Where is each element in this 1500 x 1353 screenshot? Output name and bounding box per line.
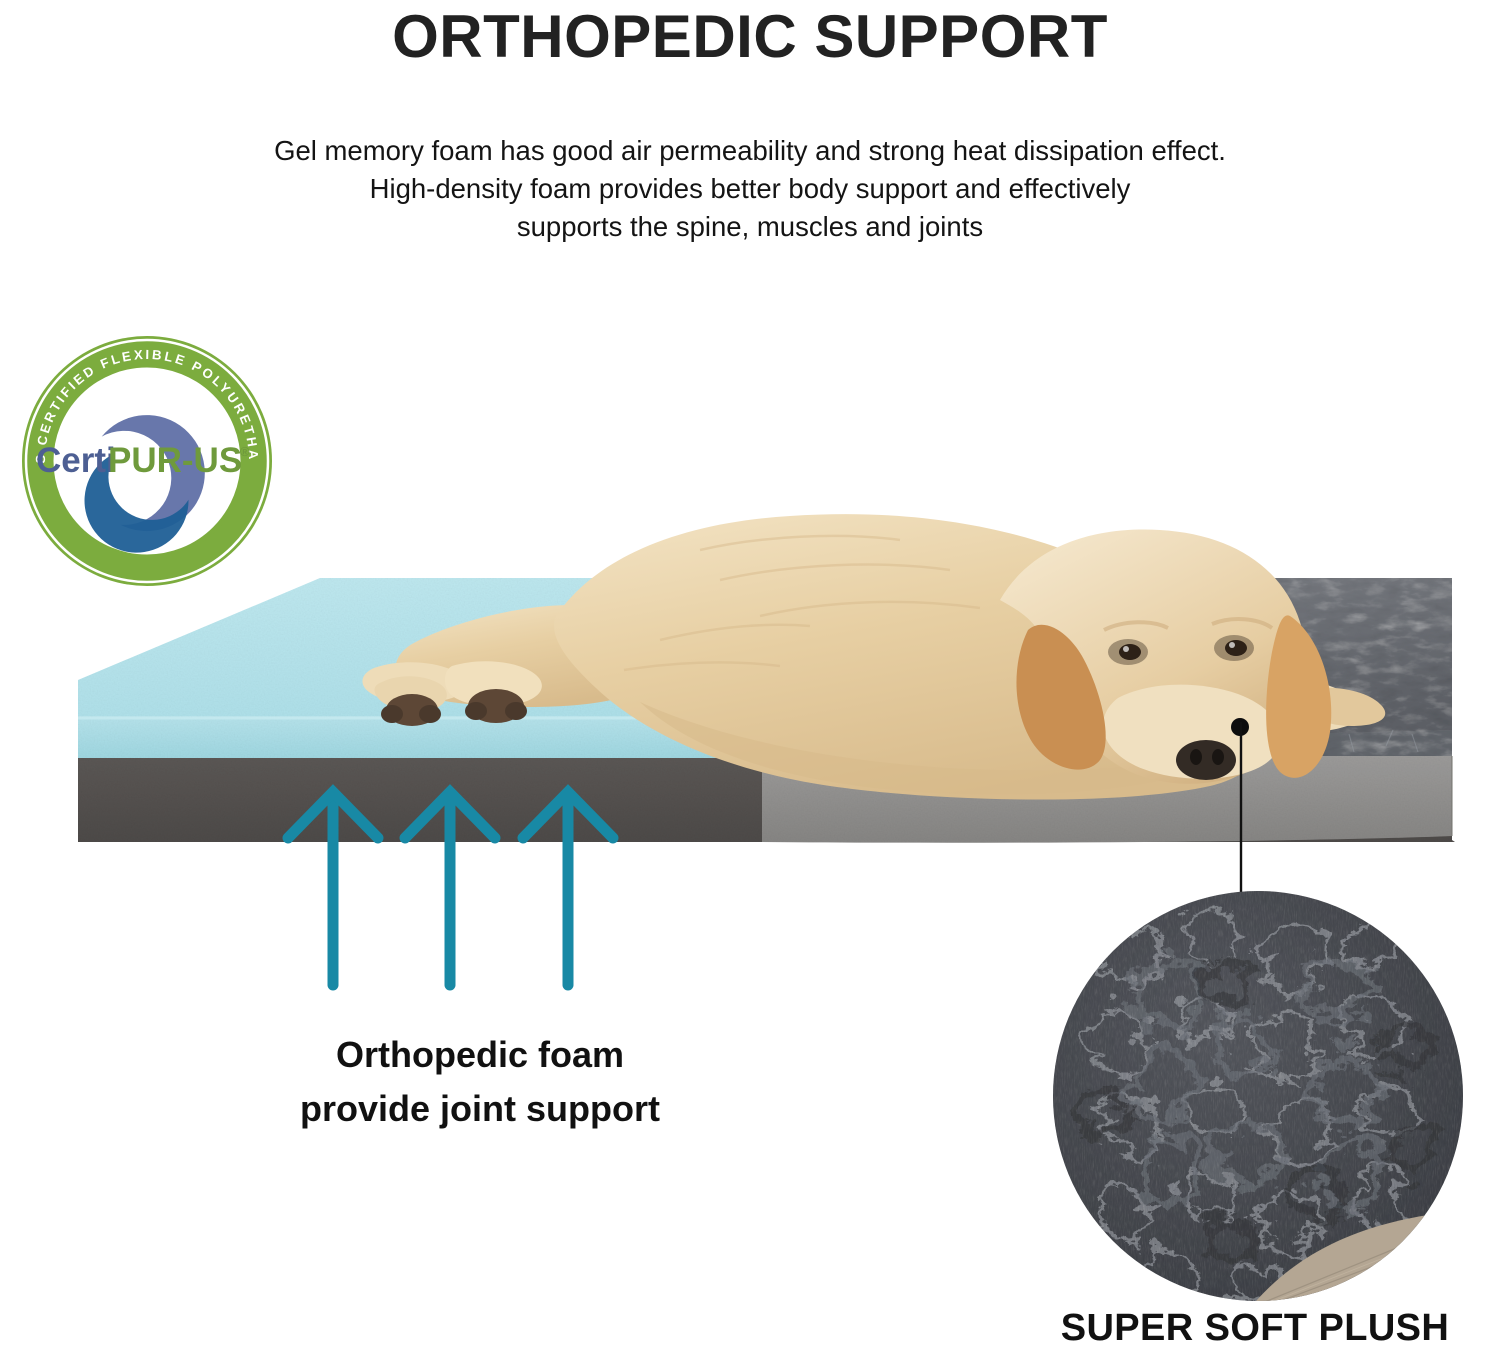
support-arrow-3 bbox=[523, 792, 613, 985]
foam-caption-line-2: provide joint support bbox=[170, 1082, 790, 1136]
page-title: ORTHOPEDIC SUPPORT bbox=[0, 4, 1500, 70]
support-arrow-2 bbox=[405, 792, 495, 985]
support-arrows-group bbox=[260, 770, 680, 1000]
subtitle-line-2: High-density foam provides better body s… bbox=[0, 170, 1500, 208]
subtitle-line-3: supports the spine, muscles and joints bbox=[0, 208, 1500, 246]
dog-bed-illustration bbox=[0, 430, 1500, 950]
page-subtitle: Gel memory foam has good air permeabilit… bbox=[0, 132, 1500, 246]
infographic-canvas: ORTHOPEDIC SUPPORT Gel memory foam has g… bbox=[0, 0, 1500, 1353]
foam-caption-line-1: Orthopedic foam bbox=[170, 1028, 790, 1082]
subtitle-line-1: Gel memory foam has good air permeabilit… bbox=[0, 132, 1500, 170]
plush-detail-circle bbox=[1050, 888, 1470, 1308]
plush-callout-leader-line bbox=[1232, 722, 1250, 912]
plush-caption: SUPER SOFT PLUSH bbox=[1020, 1306, 1490, 1350]
orthopedic-foam-caption: Orthopedic foam provide joint support bbox=[170, 1028, 790, 1136]
support-arrow-1 bbox=[288, 792, 378, 985]
